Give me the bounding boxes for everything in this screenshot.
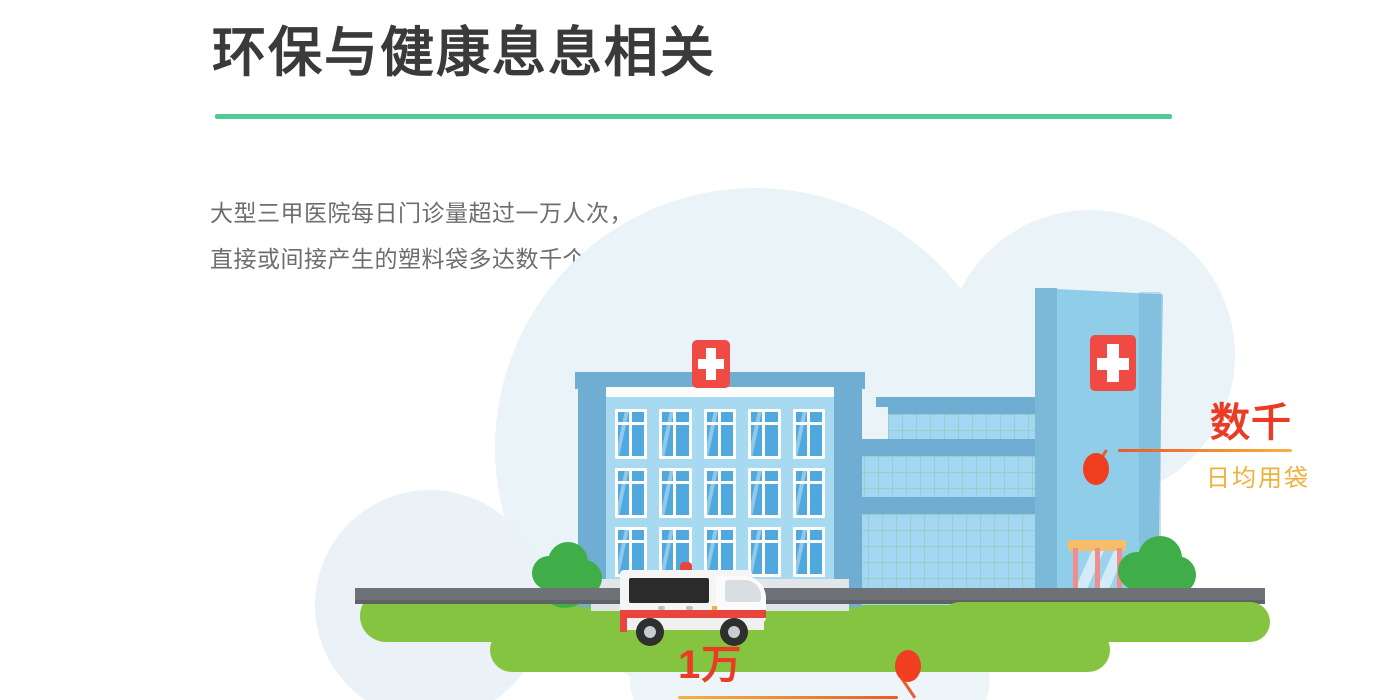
callout-patients-dot: [895, 650, 921, 682]
callout-bags-rule: [1118, 449, 1292, 452]
page-title: 环保与健康息息相关: [212, 22, 716, 84]
pillar-right: [834, 387, 862, 607]
window: [793, 409, 825, 459]
ambulance-wheel-rear: [636, 618, 664, 646]
glass-floor-middle: [850, 447, 1040, 497]
window: [659, 468, 691, 518]
window: [704, 409, 736, 459]
callout-bags-dot: [1083, 453, 1109, 485]
ledge-top: [876, 397, 1040, 407]
window-grid: [606, 405, 834, 581]
tower-cross-sign: [1090, 335, 1136, 391]
title-underline-rule: [215, 114, 1172, 119]
window: [793, 527, 825, 577]
cross-horizontal-bar: [698, 359, 724, 369]
middle-glass-building: [840, 405, 1040, 605]
main-building-cross-sign: [692, 340, 730, 388]
callout-patients-value: 1万: [678, 632, 742, 690]
window: [615, 409, 647, 459]
window: [793, 468, 825, 518]
ambulance-windshield: [725, 580, 761, 602]
window: [748, 409, 780, 459]
lawn-strip-lower: [490, 628, 1110, 672]
callout-bags-label: 日均用袋: [1206, 458, 1310, 493]
slide-canvas: 环保与健康息息相关 大型三甲医院每日门诊量超过一万人次，直接或间接产生的塑料袋多…: [0, 0, 1400, 700]
window: [615, 468, 647, 518]
window: [748, 468, 780, 518]
ambulance-red-stripe: [620, 610, 766, 618]
ambulance: [620, 556, 770, 644]
ledge-middle: [840, 439, 1040, 449]
window: [659, 409, 691, 459]
callout-patients-rule: [678, 696, 898, 699]
hospital-illustration: 1万 日均患者 数千 日均用袋: [300, 150, 1400, 700]
tower-left-stripe: [1035, 288, 1057, 605]
ambulance-window-band: [629, 578, 709, 603]
facade-top-band: [606, 387, 834, 397]
window: [704, 468, 736, 518]
ambulance-rear-panel: [620, 614, 627, 632]
glass-floor-top: [888, 405, 1040, 440]
callout-bags-value: 数千: [1210, 390, 1292, 448]
cross-horizontal-bar: [1097, 358, 1129, 370]
